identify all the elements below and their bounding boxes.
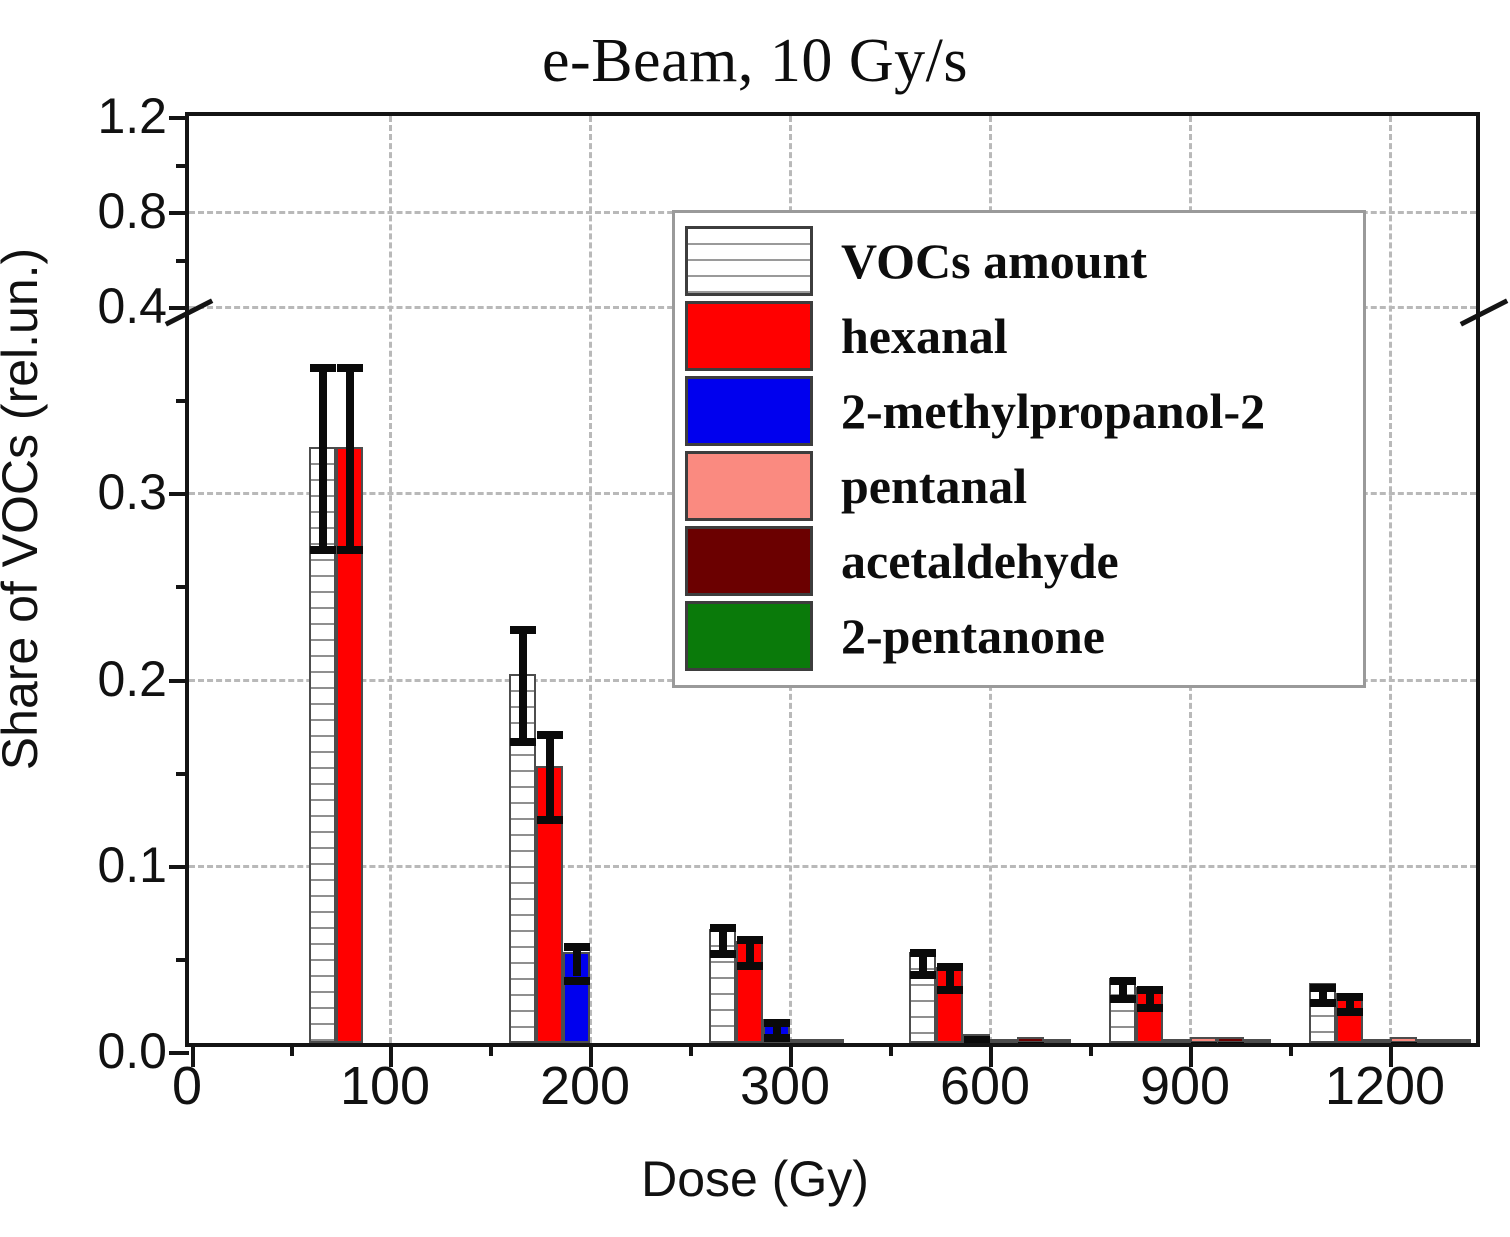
- x-axis-tick-label: 600: [940, 1055, 1030, 1117]
- legend-swatch: [685, 451, 813, 521]
- y-axis-tick: [169, 865, 189, 869]
- error-bar-cap-upper: [910, 949, 936, 957]
- error-bar-cap-lower: [1110, 995, 1136, 1003]
- y-axis-title: Share of VOCs (rel.un.): [0, 59, 49, 959]
- bar: [1417, 1039, 1444, 1043]
- y-axis-tick-label: 0.1: [97, 836, 167, 894]
- error-bar-cap-lower: [337, 546, 363, 554]
- legend-item[interactable]: 2-methylpropanol-2: [685, 373, 1363, 448]
- bar: [990, 1039, 1017, 1043]
- error-bar-cap-upper: [1310, 984, 1336, 992]
- legend-item[interactable]: acetaldehyde: [685, 523, 1363, 598]
- error-bar-cap-lower: [737, 962, 763, 970]
- y-axis-tick: [169, 679, 189, 683]
- legend-item[interactable]: VOCs amount: [685, 223, 1363, 298]
- y-axis-minor-tick: [176, 164, 189, 168]
- error-bar-cap-lower: [1337, 1008, 1363, 1016]
- legend-swatch: [685, 526, 813, 596]
- error-bar-cap-upper: [1137, 986, 1163, 994]
- x-axis-minor-tick: [1089, 1043, 1093, 1056]
- chart-page: e-Beam, 10 Gy/s 0.00.10.20.30.40.81.2 Sh…: [0, 0, 1510, 1237]
- error-bar-cap-upper: [1218, 1042, 1244, 1043]
- x-axis-minor-tick: [689, 1043, 693, 1056]
- x-axis-tick-label: 900: [1140, 1055, 1230, 1117]
- vertical-gridline: [1389, 116, 1392, 1043]
- error-bar-cap-upper: [1191, 1042, 1217, 1043]
- bar: [1044, 1039, 1071, 1043]
- bar: [1444, 1039, 1471, 1043]
- legend-item[interactable]: pentanal: [685, 448, 1363, 523]
- y-axis-minor-tick: [176, 399, 189, 403]
- error-bar-cap-lower: [764, 1034, 790, 1042]
- error-bar-stem: [319, 364, 327, 547]
- legend-swatch: [685, 601, 813, 671]
- chart-title: e-Beam, 10 Gy/s: [0, 26, 1510, 97]
- x-axis-minor-tick: [1289, 1043, 1293, 1056]
- error-bar-cap-upper: [964, 1036, 990, 1043]
- horizontal-gridline: [189, 865, 1476, 868]
- bar: [817, 1039, 844, 1043]
- y-axis-tick: [169, 492, 189, 496]
- error-bar-stem: [346, 364, 354, 547]
- error-bar-stem: [519, 626, 527, 738]
- error-bar-cap-lower: [1137, 1004, 1163, 1012]
- error-bar-cap-upper: [737, 936, 763, 944]
- vertical-gridline: [589, 116, 592, 1043]
- error-bar-cap-lower: [310, 546, 336, 554]
- x-axis-minor-tick: [889, 1043, 893, 1056]
- y-axis-tick: [169, 116, 189, 120]
- error-bar-cap-upper: [537, 731, 563, 739]
- y-axis-tick: [169, 211, 189, 215]
- y-axis-tick-label: 1.2: [97, 87, 167, 145]
- legend-label: hexanal: [841, 311, 1008, 361]
- x-axis-title: Dose (Gy): [0, 1150, 1510, 1208]
- y-axis-minor-tick: [176, 585, 189, 589]
- y-axis-minor-tick: [176, 958, 189, 962]
- legend-label: 2-pentanone: [841, 611, 1105, 661]
- error-bar-cap-upper: [764, 1019, 790, 1027]
- y-axis-tick-label: 0.8: [97, 182, 167, 240]
- error-bar-cap-lower: [937, 986, 963, 994]
- bar: [1163, 1039, 1190, 1043]
- y-axis-minor-tick: [176, 772, 189, 776]
- error-bar-cap-lower: [564, 977, 590, 985]
- error-bar-cap-upper: [337, 364, 363, 372]
- legend-swatch: [685, 226, 813, 296]
- bar: [1244, 1039, 1271, 1043]
- x-axis-tick-label: 100: [340, 1055, 430, 1117]
- error-bar-cap-upper: [937, 963, 963, 971]
- legend-item[interactable]: 2-pentanone: [685, 598, 1363, 673]
- legend-label: acetaldehyde: [841, 536, 1119, 586]
- error-bar-cap-upper: [1391, 1042, 1417, 1043]
- y-axis-tick-label: 0.4: [97, 277, 167, 335]
- legend-label: 2-methylpropanol-2: [841, 386, 1265, 436]
- error-bar-cap-upper: [1110, 977, 1136, 985]
- error-bar-cap-upper: [1337, 993, 1363, 1001]
- error-bar-cap-upper: [1018, 1042, 1044, 1043]
- chart-legend: VOCs amounthexanal2-methylpropanol-2pent…: [672, 210, 1366, 688]
- error-bar-stem: [546, 731, 554, 817]
- x-axis-minor-tick: [489, 1043, 493, 1056]
- x-axis-minor-tick: [290, 1043, 294, 1056]
- legend-label: VOCs amount: [841, 236, 1147, 286]
- error-bar-cap-upper: [310, 364, 336, 372]
- error-bar-cap-lower: [1310, 999, 1336, 1007]
- bar: [1363, 1039, 1390, 1043]
- y-axis-tick-label: 0.0: [97, 1022, 167, 1080]
- y-axis-tick-label: 0.3: [97, 463, 167, 521]
- error-bar-cap-lower: [710, 950, 736, 958]
- error-bar-cap-lower: [510, 738, 536, 746]
- x-axis-tick-label: 1200: [1325, 1055, 1445, 1117]
- y-axis-tick: [169, 306, 189, 310]
- vertical-gridline: [389, 116, 392, 1043]
- legend-swatch: [685, 301, 813, 371]
- legend-swatch: [685, 376, 813, 446]
- x-axis-tick-label: 200: [540, 1055, 630, 1117]
- error-bar-cap-lower: [537, 816, 563, 824]
- y-axis-minor-tick: [176, 259, 189, 263]
- y-axis-tick-label: 0.2: [97, 650, 167, 708]
- x-axis-tick-label: 300: [740, 1055, 830, 1117]
- x-axis-tick-label: 0: [172, 1055, 202, 1117]
- error-bar-cap-upper: [564, 943, 590, 951]
- legend-label: pentanal: [841, 461, 1027, 511]
- legend-item[interactable]: hexanal: [685, 298, 1363, 373]
- error-bar-cap-lower: [910, 971, 936, 979]
- error-bar-cap-upper: [510, 626, 536, 634]
- bar: [790, 1039, 817, 1043]
- error-bar-cap-upper: [710, 924, 736, 932]
